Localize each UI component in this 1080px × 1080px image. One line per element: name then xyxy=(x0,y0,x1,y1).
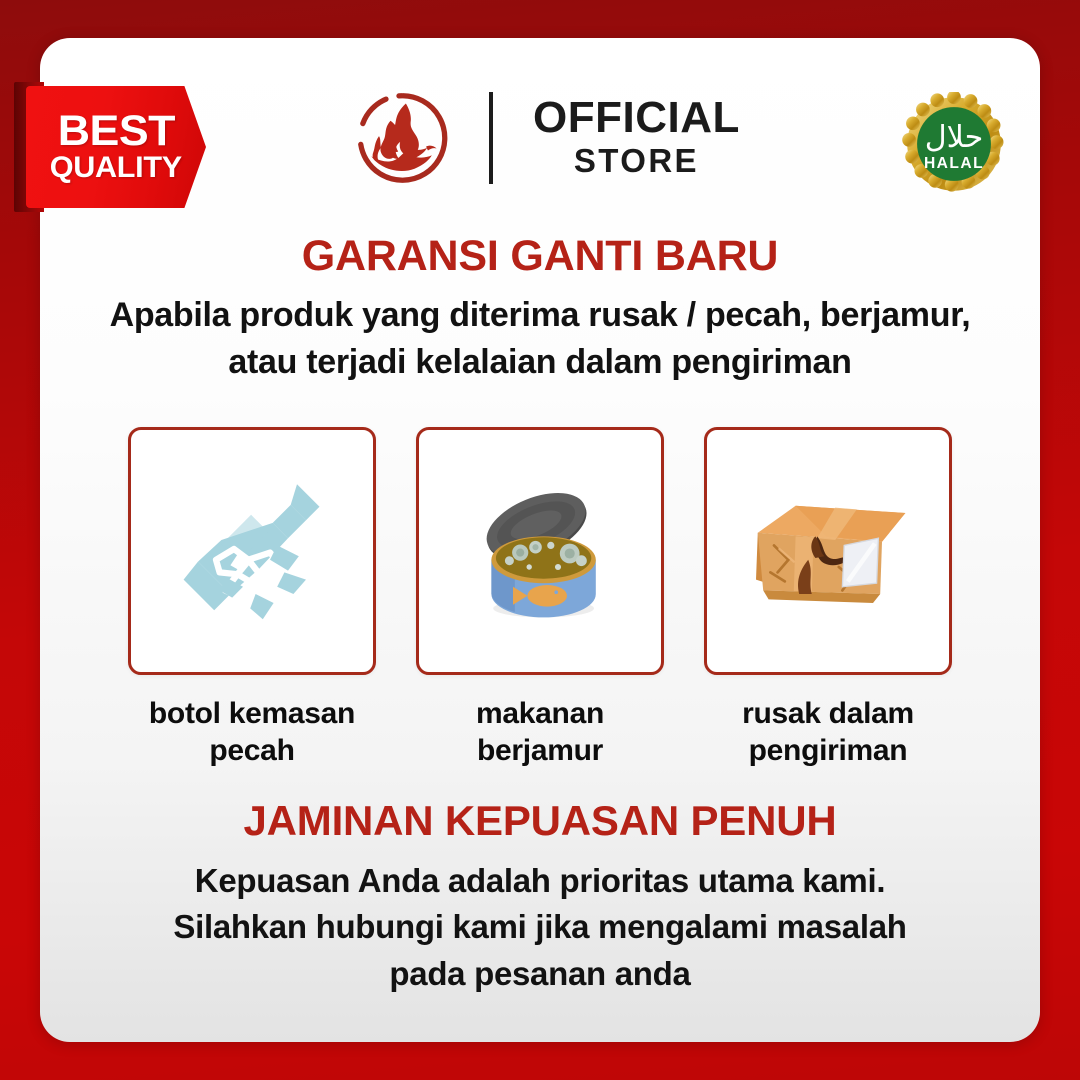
ribbon-line-2: QUALITY xyxy=(50,153,182,184)
vertical-divider xyxy=(489,92,493,184)
chili-flame-logo-icon xyxy=(355,90,451,186)
caption-broken-bottle: botol kemasan pecah xyxy=(128,696,376,769)
footer-subtitle-line-2: Silahkan hubungi kami jika mengalami mas… xyxy=(40,904,1040,950)
damaged-parcel-box-icon xyxy=(738,459,918,644)
damage-icon-cards xyxy=(40,427,1040,677)
moldy-canned-food-icon xyxy=(450,459,630,644)
caption-line-1: makanan xyxy=(476,697,604,730)
caption-line-2: pengiriman xyxy=(749,734,908,767)
caption-line-1: botol kemasan xyxy=(149,697,355,730)
caption-moldy-food: makanan berjamur xyxy=(416,696,664,769)
card-broken-bottle xyxy=(128,427,376,675)
brand-store-label: STORE xyxy=(574,143,699,179)
svg-text:حلال: حلال xyxy=(925,120,984,155)
headline-title: GARANSI GANTI BARU xyxy=(40,233,1040,280)
headline-subtitle-line-1: Apabila produk yang diterima rusak / pec… xyxy=(40,292,1040,338)
footer-subtitle-line-1: Kepuasan Anda adalah prioritas utama kam… xyxy=(40,858,1040,904)
headline-block: GARANSI GANTI BARU Apabila produk yang d… xyxy=(40,233,1040,385)
footer-subtitle-line-3: pada pesanan anda xyxy=(40,951,1040,997)
ribbon-line-1: BEST xyxy=(57,111,174,152)
satisfaction-block: JAMINAN KEPUASAN PENUH Kepuasan Anda ada… xyxy=(40,798,1040,997)
caption-line-2: pecah xyxy=(209,734,294,767)
brand-wordmark: OFFICIAL STORE xyxy=(533,96,740,179)
halal-certification-badge: حلال HALAL xyxy=(902,92,1006,196)
card-damaged-parcel xyxy=(704,427,952,675)
ribbon-text: BEST QUALITY xyxy=(26,86,206,208)
brand-lockup: OFFICIAL STORE xyxy=(355,90,740,186)
best-quality-ribbon: BEST QUALITY xyxy=(0,82,235,212)
card-moldy-food xyxy=(416,427,664,675)
caption-damaged-parcel: rusak dalam pengiriman xyxy=(704,696,952,769)
headline-subtitle-line-2: atau terjadi kelalaian dalam pengiriman xyxy=(40,339,1040,385)
card-captions-row: botol kemasan pecah makanan berjamur rus… xyxy=(40,696,1040,769)
footer-title: JAMINAN KEPUASAN PENUH xyxy=(40,798,1040,844)
caption-line-1: rusak dalam xyxy=(742,697,914,730)
caption-line-2: berjamur xyxy=(477,734,603,767)
broken-bottle-icon xyxy=(162,459,342,644)
svg-text:HALAL: HALAL xyxy=(924,155,984,172)
brand-official-label: OFFICIAL xyxy=(533,96,740,141)
